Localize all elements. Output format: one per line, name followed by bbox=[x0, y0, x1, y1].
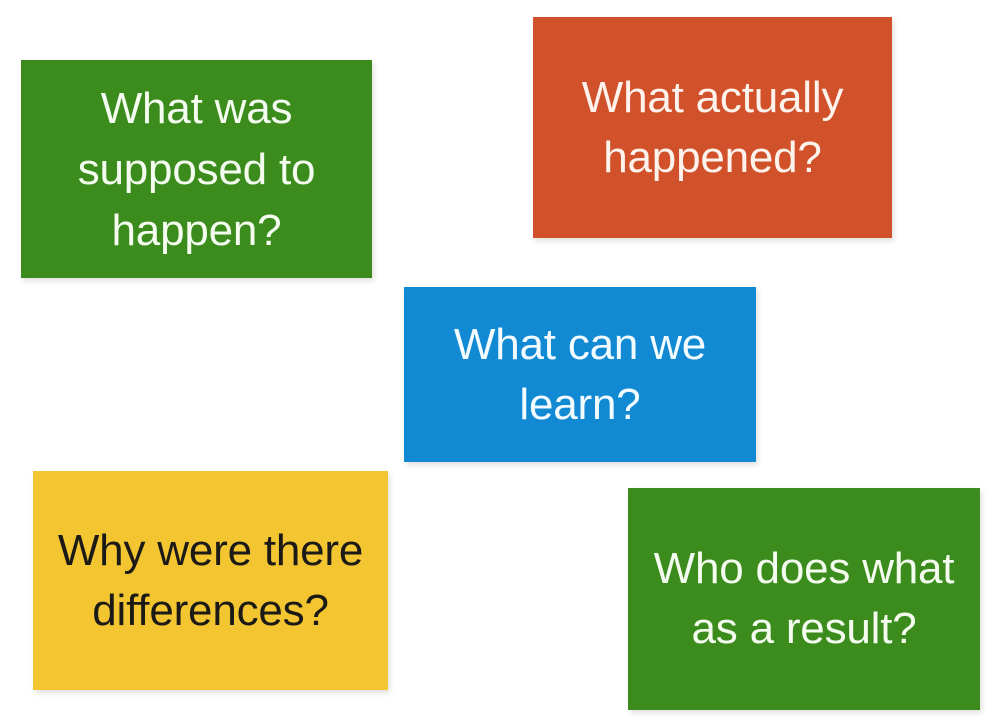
card-what-was-supposed-to-happen[interactable]: What was supposed to happen? bbox=[21, 60, 372, 278]
card-who-does-what-as-a-result[interactable]: Who does what as a result? bbox=[628, 488, 980, 710]
diagram-canvas: What was supposed to happen? What actual… bbox=[0, 0, 1000, 724]
card-label: Who does what as a result? bbox=[654, 539, 955, 659]
card-label: What can we learn? bbox=[454, 315, 706, 435]
card-what-can-we-learn[interactable]: What can we learn? bbox=[404, 287, 756, 462]
card-label: Why were there differences? bbox=[58, 521, 363, 641]
card-what-actually-happened[interactable]: What actually happened? bbox=[533, 17, 892, 238]
card-label: What was supposed to happen? bbox=[78, 78, 316, 261]
card-label: What actually happened? bbox=[582, 68, 844, 188]
card-why-were-there-differences[interactable]: Why were there differences? bbox=[33, 471, 388, 690]
